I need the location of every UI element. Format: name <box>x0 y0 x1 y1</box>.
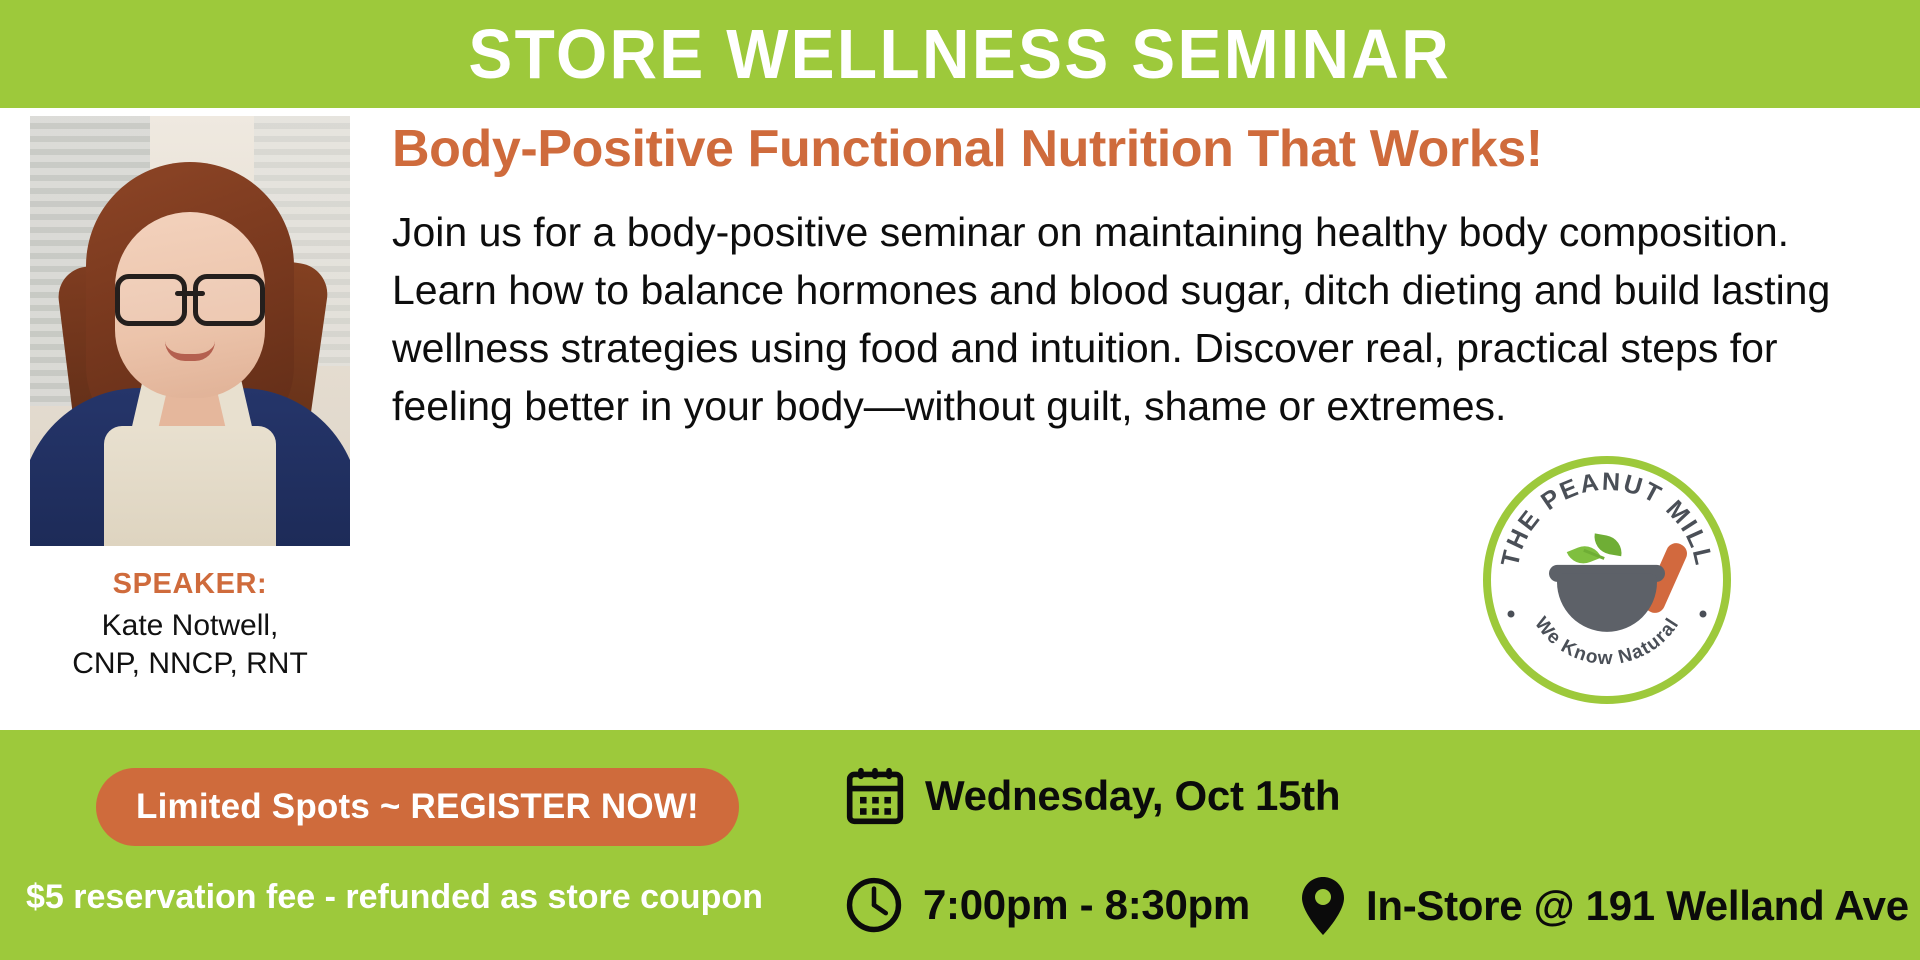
event-date-row: Wednesday, Oct 15th <box>845 766 1340 826</box>
photo-eyeglasses <box>113 274 267 318</box>
mortar-bowl <box>1557 574 1657 632</box>
speaker-column: SPEAKER: Kate Notwell, CNP, NNCP, RNT <box>30 116 350 682</box>
speaker-label: SPEAKER: <box>30 568 350 601</box>
photo-eyeglasses-bridge <box>175 291 205 296</box>
event-date-text: Wednesday, Oct 15th <box>925 772 1340 820</box>
speaker-name: Kate Notwell, CNP, NNCP, RNT <box>30 607 350 682</box>
photo-apron <box>104 426 276 546</box>
clock-icon <box>845 876 903 934</box>
seminar-promo-banner: STORE WELLNESS SEMINAR <box>0 0 1920 960</box>
event-time-row: 7:00pm - 8:30pm <box>845 876 1250 934</box>
event-time-text: 7:00pm - 8:30pm <box>923 881 1250 929</box>
footer-bar: Limited Spots ~ REGISTER NOW! $5 reserva… <box>0 730 1920 960</box>
speaker-photo <box>30 116 350 546</box>
reservation-fee-note: $5 reservation fee - refunded as store c… <box>26 878 763 917</box>
calendar-icon <box>845 766 905 826</box>
event-location-text: In-Store @ 191 Welland Ave <box>1366 882 1909 930</box>
location-pin-icon <box>1300 876 1346 936</box>
event-location-row: In-Store @ 191 Welland Ave <box>1300 876 1909 936</box>
register-now-button[interactable]: Limited Spots ~ REGISTER NOW! <box>96 768 739 846</box>
speaker-credentials: CNP, NNCP, RNT <box>30 645 350 683</box>
header-bar: STORE WELLNESS SEMINAR <box>0 0 1920 108</box>
speaker-name-line-1: Kate Notwell, <box>30 607 350 645</box>
copy-column: Body-Positive Functional Nutrition That … <box>392 122 1892 435</box>
headline: Body-Positive Functional Nutrition That … <box>392 122 1892 177</box>
brand-logo: THE PEANUT MILL We Know Natural <box>1483 456 1731 704</box>
page-title: STORE WELLNESS SEMINAR <box>469 19 1452 89</box>
mortar-and-pestle-icon <box>1549 536 1665 632</box>
body-copy: Join us for a body-positive seminar on m… <box>392 203 1857 436</box>
